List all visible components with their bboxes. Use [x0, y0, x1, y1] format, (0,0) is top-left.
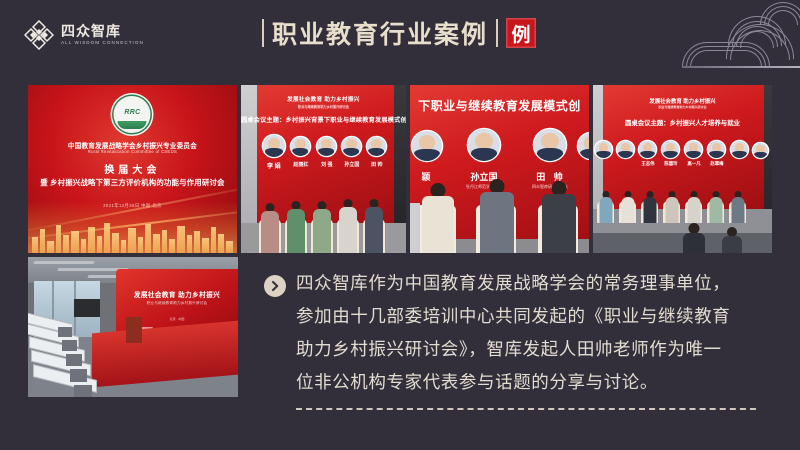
panelist-figure [642, 191, 658, 223]
avatar [662, 141, 679, 158]
rrc-emblem-icon [114, 96, 151, 133]
body-line-2: 参加由十几部委培训中心共同发起的《职业与继续教育 [296, 301, 788, 334]
panelist-name: 颖 [410, 170, 442, 183]
title-right-bar-icon [496, 19, 498, 47]
avatar [617, 141, 634, 158]
photo1-line3: 换届大会 [28, 161, 237, 176]
avatar [708, 141, 725, 158]
avatar [291, 137, 310, 156]
avatar [468, 129, 500, 161]
panelist-figure [664, 191, 680, 223]
page-title-text: 职业教育行业案例 [272, 15, 488, 51]
audience-figure [681, 225, 707, 253]
avatar [595, 141, 612, 158]
photo3-banner-title: 下职业与继续教育发展模式创 [410, 97, 589, 114]
photo4-banner-sub: 职业与继续教育助力乡村振兴研讨会 [593, 105, 772, 109]
status-badge: 例 [506, 18, 536, 48]
panelist-figure [311, 199, 333, 253]
chevron-right-circle-icon [264, 275, 286, 297]
photo-roundtable-panel-1[interactable]: 发展社会教育 助力乡村振兴 职业与继续教育助力乡村振兴研讨会 圆桌会议主题：乡村… [241, 85, 406, 253]
panelist-figure [259, 201, 281, 253]
avatar [685, 141, 702, 158]
panelist-figure [538, 181, 580, 253]
photo1-line2: Rural Revitalization Committee of CSEDS [28, 149, 237, 154]
photo2-banner-sub: 职业与继续教育助力乡村振兴研讨会 [241, 104, 406, 109]
avatar [317, 137, 336, 156]
avatar [534, 129, 566, 161]
panelist-figure [686, 191, 702, 223]
photo-conference-hall[interactable]: 发展社会教育 助力乡村振兴 职业与继续教育助力乡村振兴研讨会 北京 · 中国 [28, 257, 238, 397]
panelist-figure [418, 183, 458, 253]
panelist-name: 田 帅 [361, 161, 393, 168]
audience-tables [28, 301, 146, 397]
panelist-name: 赵翠梅 [702, 161, 732, 167]
avatar [263, 135, 285, 157]
header-accent-bar [682, 66, 800, 68]
body-paragraph: 四众智库作为中国教育发展战略学会的常务理事单位， 参加由十几部委培训中心共同发起… [296, 268, 788, 400]
photo-conference-backdrop[interactable]: 中国教育发展战略学会乡村振兴专业委员会 Rural Revitalization… [28, 85, 237, 253]
photo-roundtable-panel-2[interactable]: 下职业与继续教育发展模式创 颖 孙立国 田 帅 牡丹江师范学院教授 四众智库研究… [410, 85, 589, 253]
avatar [753, 143, 768, 158]
slide-root: 四众智库 ALL WISDOM CONNECTION 职业教育行业案例 例 中国… [0, 0, 800, 450]
avatar [731, 141, 748, 158]
panelist-figure [337, 197, 359, 253]
brand-tagline-en: ALL WISDOM CONNECTION [61, 41, 144, 46]
brand-logo: 四众智库 ALL WISDOM CONNECTION [24, 20, 144, 50]
photo2-banner-top: 发展社会教育 助力乡村振兴 [241, 95, 406, 103]
avatar [639, 141, 656, 158]
photo2-banner-title: 圆桌会议主题：乡村振兴背景下职业与继续教育发展模式创新 [241, 115, 406, 124]
photo4-banner-title: 圆桌会议主题：乡村振兴人才培养与就业 [593, 118, 772, 127]
panelist-figure [476, 179, 518, 253]
skyline-decoration [28, 219, 237, 253]
avatar [342, 137, 361, 156]
body-line-4: 位非公机构专家代表参与话题的分享与讨论。 [296, 367, 788, 400]
panelist-figure [708, 191, 724, 223]
body-line-3: 助力乡村振兴研讨会》，智库发起人田帅老师作为唯一 [296, 334, 788, 367]
dashed-divider-icon [296, 408, 756, 410]
diamond-lattice-logo-icon [24, 20, 54, 50]
avatar [412, 131, 442, 161]
panelist-figure [363, 197, 385, 253]
title-left-bar-icon [262, 19, 264, 47]
panelist-figure [620, 191, 636, 223]
audience-figure [719, 229, 745, 253]
brand-name-cn: 四众智库 [61, 24, 144, 38]
avatar [367, 137, 386, 156]
body-line-1: 四众智库作为中国教育发展战略学会的常务理事单位， [296, 268, 788, 301]
panelist-figure [285, 199, 307, 253]
slide-header: 四众智库 ALL WISDOM CONNECTION 职业教育行业案例 例 [0, 0, 800, 66]
photo1-line4: 暨 乡村振兴战略下第三方评价机构的功能与作用研讨会 [28, 177, 237, 188]
photo4-banner-top: 发展社会教育 助力乡村振兴 [593, 97, 772, 105]
hall-banner-title: 发展社会教育 助力乡村振兴 [116, 289, 238, 299]
panelist-figure [598, 191, 614, 223]
panelist-figure [730, 191, 746, 223]
page-title: 职业教育行业案例 例 [262, 14, 536, 52]
photo-strip: 中国教育发展战略学会乡村振兴专业委员会 Rural Revitalization… [28, 85, 772, 253]
photo-roundtable-panel-3[interactable]: 发展社会教育 助力乡村振兴 职业与继续教育助力乡村振兴研讨会 圆桌会议主题：乡村… [593, 85, 772, 253]
